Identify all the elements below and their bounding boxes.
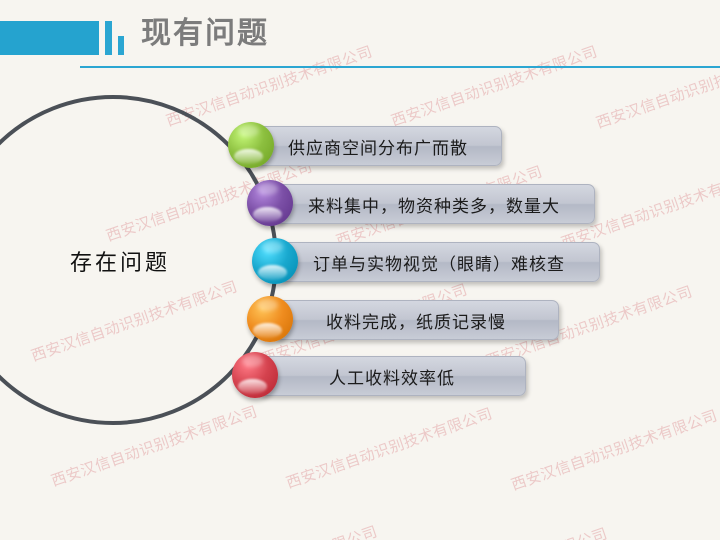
- problem-label-plate[interactable]: 来料集中，物资种类多，数量大: [273, 184, 595, 224]
- problem-item[interactable]: 订单与实物视觉（眼睛）难核查: [252, 238, 600, 286]
- problem-label-plate[interactable]: 收料完成，纸质记录慢: [273, 300, 559, 340]
- problem-item[interactable]: 收料完成，纸质记录慢: [247, 296, 559, 344]
- watermark-text: 西安汉信自动识别技术有限公司: [283, 402, 495, 493]
- problem-label-plate[interactable]: 供应商空间分布广而散: [254, 126, 502, 166]
- problem-label-text: 人工收料效率低: [329, 364, 455, 389]
- page-title: 现有问题: [141, 12, 269, 56]
- slide-header: 现有问题: [0, 0, 720, 72]
- bubble-purple[interactable]: [247, 180, 293, 226]
- bubble-bottom-highlight: [253, 323, 282, 339]
- bubble-bottom-highlight: [253, 207, 282, 223]
- problem-item[interactable]: 人工收料效率低: [232, 352, 526, 400]
- header-underline: [80, 66, 720, 68]
- slide-canvas: 西安汉信自动识别技术有限公司西安汉信自动识别技术有限公司西安汉信自动识别技术有限…: [0, 0, 720, 540]
- problem-item[interactable]: 来料集中，物资种类多，数量大: [247, 180, 595, 228]
- bubble-top-highlight: [257, 183, 278, 195]
- header-color-block: [0, 21, 99, 55]
- watermark-text: 西安汉信自动识别技术有限公司: [168, 520, 380, 540]
- watermark-text: 西安汉信自动识别技术有限公司: [508, 404, 720, 495]
- watermark-text: 西安汉信自动识别技术有限公司: [398, 522, 610, 540]
- header-accent-bar-short: [118, 36, 124, 55]
- problem-label-plate[interactable]: 人工收料效率低: [258, 356, 526, 396]
- bubble-green[interactable]: [228, 122, 274, 168]
- problem-label-text: 订单与实物视觉（眼睛）难核查: [313, 250, 565, 275]
- problem-label-text: 收料完成，纸质记录慢: [326, 308, 506, 333]
- bubble-red[interactable]: [232, 352, 278, 398]
- problem-label-text: 供应商空间分布广而散: [288, 134, 468, 159]
- problem-label-text: 来料集中，物资种类多，数量大: [308, 192, 560, 217]
- bubble-bottom-highlight: [258, 265, 287, 281]
- header-accent-bar-tall: [105, 21, 112, 55]
- problem-item[interactable]: 供应商空间分布广而散: [228, 122, 502, 170]
- bubble-top-highlight: [262, 241, 283, 253]
- central-circle-label: 存在问题: [10, 245, 230, 277]
- bubble-top-highlight: [257, 299, 278, 311]
- bubble-cyan[interactable]: [252, 238, 298, 284]
- bubble-bottom-highlight: [238, 379, 267, 395]
- bubble-top-highlight: [238, 125, 259, 137]
- problem-label-plate[interactable]: 订单与实物视觉（眼睛）难核查: [278, 242, 600, 282]
- bubble-bottom-highlight: [234, 149, 263, 165]
- bubble-orange[interactable]: [247, 296, 293, 342]
- bubble-top-highlight: [242, 355, 263, 367]
